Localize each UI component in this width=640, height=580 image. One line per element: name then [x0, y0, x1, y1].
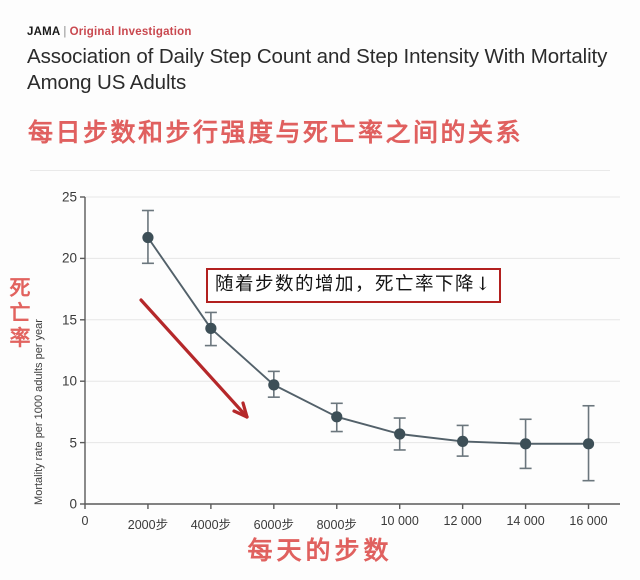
callout-annotation: 随着步数的增加，死亡率下降↓: [206, 268, 501, 303]
y-tick-label: 0: [43, 497, 77, 512]
data-point: [457, 436, 468, 447]
y-tick-label: 5: [43, 435, 77, 450]
x-tick-label: 14 000: [506, 514, 544, 528]
page-title: Association of Daily Step Count and Step…: [27, 44, 622, 96]
trend-arrow: [141, 300, 247, 417]
mortality-step-chart: Mortality rate per 1000 adults per year …: [0, 176, 640, 526]
journal-header: JAMA|Original Investigation: [27, 26, 192, 38]
y-tick-label: 25: [43, 190, 77, 205]
screenshot-root: JAMA|Original Investigation Association …: [0, 0, 640, 580]
data-point: [394, 428, 405, 439]
journal-separator: |: [60, 26, 69, 38]
y-tick-label: 10: [43, 374, 77, 389]
data-point: [520, 438, 531, 449]
x-axis-chinese-label: 每天的步数: [0, 531, 640, 567]
x-tick-label: 10 000: [381, 514, 419, 528]
data-point: [583, 438, 594, 449]
data-point: [142, 232, 153, 243]
plot-area: [0, 176, 640, 526]
header-divider: [30, 170, 610, 171]
x-tick-label: 0: [82, 514, 89, 528]
x-tick-label: 12 000: [444, 514, 482, 528]
y-tick-label: 20: [43, 251, 77, 266]
y-tick-label: 15: [43, 312, 77, 327]
data-point: [331, 411, 342, 422]
x-tick-label: 16 000: [569, 514, 607, 528]
data-point: [268, 379, 279, 390]
data-point: [205, 323, 216, 334]
chinese-subtitle: 每日步数和步行强度与死亡率之间的关系: [28, 116, 628, 150]
article-type: Original Investigation: [70, 26, 192, 38]
journal-name: JAMA: [27, 26, 60, 38]
